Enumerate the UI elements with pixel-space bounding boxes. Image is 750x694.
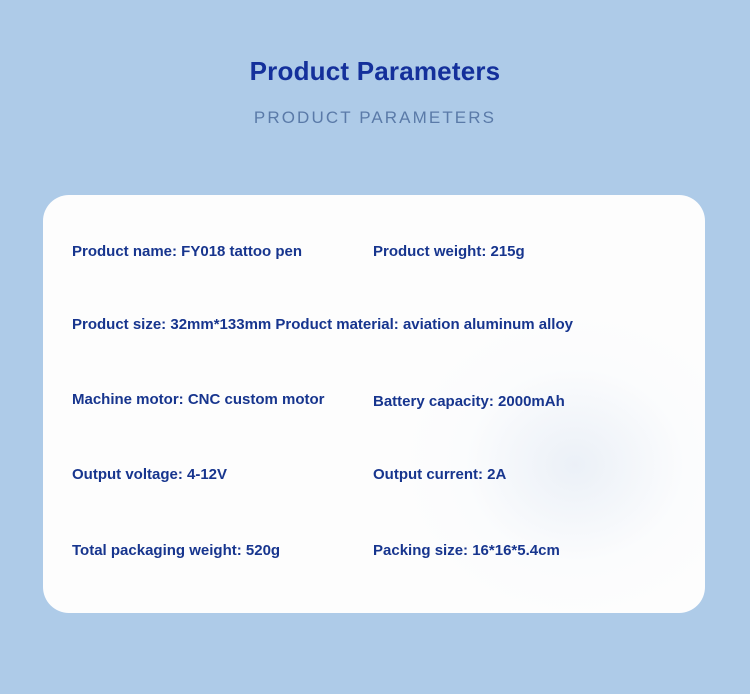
table-row: Total packaging weight: 520g Packing siz… — [43, 540, 705, 562]
table-row: Product name: FY018 tattoo pen Product w… — [43, 241, 705, 263]
spec-item-output-voltage: Output voltage: 4-12V — [72, 464, 227, 486]
page-heading: Product Parameters PRODUCT PARAMETERS — [0, 0, 750, 129]
spec-item-product-weight: Product weight: 215g — [373, 241, 525, 263]
spec-item-total-packaging-weight: Total packaging weight: 520g — [72, 540, 280, 562]
table-row: Output voltage: 4-12V Output current: 2A — [43, 464, 705, 486]
spec-item-battery-capacity: Battery capacity: 2000mAh — [373, 391, 565, 413]
spec-item-product-name: Product name: FY018 tattoo pen — [72, 241, 302, 263]
table-row: Product size: 32mm*133mm Product materia… — [43, 314, 705, 336]
spec-item-packing-size: Packing size: 16*16*5.4cm — [373, 540, 560, 562]
page-subtitle: PRODUCT PARAMETERS — [0, 107, 750, 129]
spec-card: Product name: FY018 tattoo pen Product w… — [43, 195, 705, 613]
spec-item-output-current: Output current: 2A — [373, 464, 506, 486]
spec-list: Product name: FY018 tattoo pen Product w… — [43, 195, 705, 613]
page-title: Product Parameters — [0, 55, 750, 87]
spec-item-machine-motor: Machine motor: CNC custom motor — [72, 389, 325, 411]
spec-item-size-and-material: Product size: 32mm*133mm Product materia… — [72, 314, 685, 336]
table-row: Machine motor: CNC custom motor Battery … — [43, 389, 705, 411]
